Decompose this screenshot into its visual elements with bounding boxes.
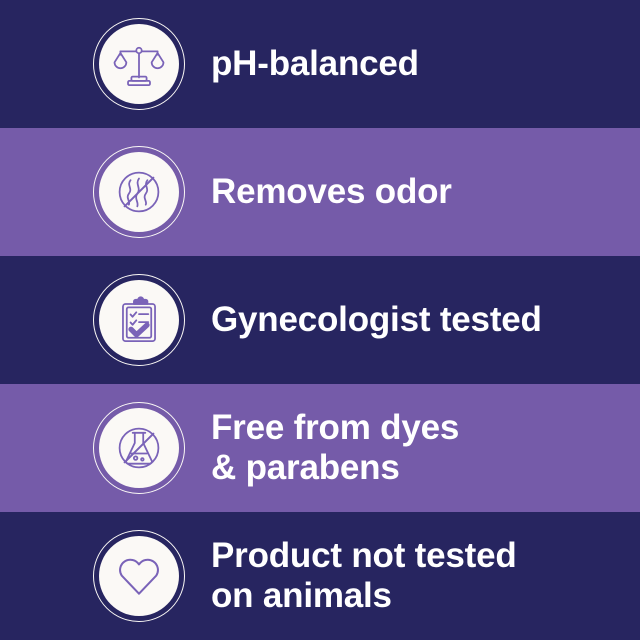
benefit-label: Free from dyes & parabens bbox=[211, 408, 459, 487]
benefits-panel: pH-balanced Removes odor bbox=[0, 0, 640, 640]
benefit-label: Gynecologist tested bbox=[211, 300, 542, 340]
benefit-label: pH-balanced bbox=[211, 44, 419, 84]
heart-icon bbox=[99, 536, 179, 616]
benefit-row-gynecologist-tested: Gynecologist tested bbox=[0, 256, 640, 384]
no-flask-icon bbox=[99, 408, 179, 488]
benefit-row-ph-balanced: pH-balanced bbox=[0, 0, 640, 128]
clipboard-check-icon bbox=[99, 280, 179, 360]
benefit-row-removes-odor: Removes odor bbox=[0, 128, 640, 256]
benefit-row-not-tested-on-animals: Product not tested on animals bbox=[0, 512, 640, 640]
benefit-label: Removes odor bbox=[211, 172, 452, 212]
balance-scale-icon bbox=[99, 24, 179, 104]
benefit-row-free-from-dyes: Free from dyes & parabens bbox=[0, 384, 640, 512]
benefit-label: Product not tested on animals bbox=[211, 536, 517, 615]
no-odor-icon bbox=[99, 152, 179, 232]
